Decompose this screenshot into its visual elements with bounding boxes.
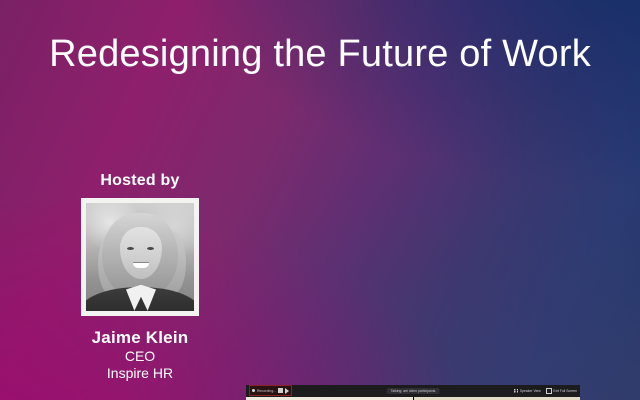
speaker-view-button[interactable]: Speaker View xyxy=(514,389,540,393)
mouth xyxy=(133,263,149,268)
recording-label: Recording... xyxy=(257,389,276,393)
host-name: Jaime Klein xyxy=(62,328,218,348)
recording-indicator[interactable]: Recording... xyxy=(249,385,292,396)
exit-full-screen-button[interactable]: Exit Full Screen xyxy=(546,388,577,394)
stop-icon[interactable] xyxy=(285,388,289,394)
host-avatar xyxy=(86,203,194,311)
pause-icon[interactable] xyxy=(278,388,283,393)
eye-left xyxy=(127,247,134,250)
video-player[interactable]: Recording... Talking: are video particip… xyxy=(246,385,580,400)
speaker-view-label: Speaker View xyxy=(520,389,541,393)
zoom-top-right-controls: Speaker View Exit Full Screen xyxy=(514,388,577,394)
eye-right xyxy=(147,247,154,250)
host-company: Inspire HR xyxy=(62,365,218,383)
hosted-by-label: Hosted by xyxy=(62,172,218,190)
meeting-status-label: Talking: are video participants xyxy=(391,389,436,393)
meeting-status-pill: Talking: are video participants xyxy=(387,388,440,394)
zoom-top-bar: Recording... Talking: are video particip… xyxy=(246,385,580,397)
grid-icon xyxy=(514,389,518,393)
host-block: Hosted by Jaime Klein CEO Inspire HR xyxy=(62,172,218,383)
host-role: CEO xyxy=(62,348,218,366)
exit-full-screen-label: Exit Full Screen xyxy=(553,389,577,393)
record-dot-icon xyxy=(252,389,255,392)
expand-icon xyxy=(546,388,552,394)
page-title: Redesigning the Future of Work xyxy=(0,34,640,76)
webinar-promo-card: Redesigning the Future of Work Hosted by… xyxy=(0,0,640,400)
host-photo-frame xyxy=(81,198,199,316)
